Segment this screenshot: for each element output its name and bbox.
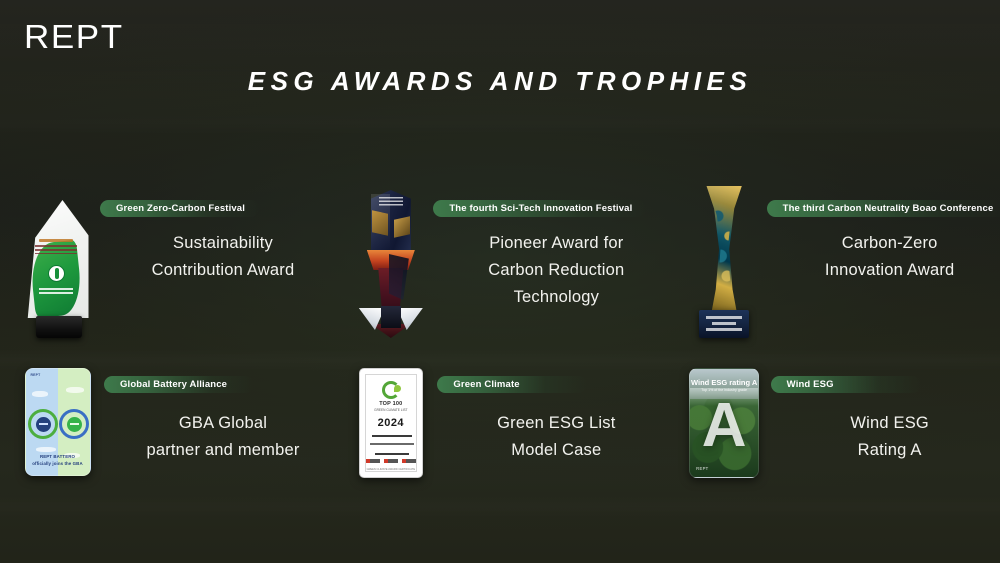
page-title: ESG AWARDS AND TROPHIES xyxy=(0,66,1000,97)
slide-canvas: REPT ESG AWARDS AND TROPHIES Green Zero-… xyxy=(0,0,1000,563)
card-artwork-wind-esg: A Wind ESG rating A Top 1% of the indust… xyxy=(667,368,782,508)
award-caption-line2: Contribution Award xyxy=(112,257,334,284)
award-caption: Pioneer Award for Carbon Reduction Techn… xyxy=(445,230,667,311)
award-item[interactable]: Green Zero-Carbon Festival Sustainabilit… xyxy=(0,178,333,338)
certificate-footer: GREEN CLIMATE AWARD CERTIFICATE xyxy=(360,468,422,471)
card-artwork-certificate: TOP 100 GREEN CLIMATE LIST 2024 GREEN CL… xyxy=(333,368,448,508)
award-caption-line2: Rating A xyxy=(779,437,1000,464)
award-tag: Wind ESG xyxy=(771,376,921,393)
award-caption-line1: Green ESG List xyxy=(497,414,615,432)
award-tag: The third Carbon Neutrality Boao Confere… xyxy=(767,200,1000,217)
award-caption: Sustainability Contribution Award xyxy=(112,230,334,284)
wind-esg-subline: Top 1% of the industry grade xyxy=(690,388,758,392)
awards-row-2: REPT REPT BATTERO officially joins the G… xyxy=(0,368,1000,508)
award-item[interactable]: TOP 100 GREEN CLIMATE LIST 2024 GREEN CL… xyxy=(333,368,666,508)
award-caption-line1: Carbon-Zero xyxy=(842,234,938,252)
award-item[interactable]: The third Carbon Neutrality Boao Confere… xyxy=(667,178,1000,338)
awards-row-1: Green Zero-Carbon Festival Sustainabilit… xyxy=(0,178,1000,338)
wind-esg-rating-card-icon: A Wind ESG rating A Top 1% of the indust… xyxy=(689,368,759,478)
card-artwork-gba: REPT REPT BATTERO officially joins the G… xyxy=(0,368,115,508)
gba-membership-card-icon: REPT REPT BATTERO officially joins the G… xyxy=(25,368,91,476)
gba-card-footer-line1: REPT BATTERO xyxy=(26,454,90,459)
award-tag: Global Battery Alliance xyxy=(104,376,254,393)
award-caption: Green ESG List Model Case xyxy=(445,410,667,464)
award-item[interactable]: A Wind ESG rating A Top 1% of the indust… xyxy=(667,368,1000,508)
certificate-year: 2024 xyxy=(360,417,422,429)
certificate-rank: TOP 100 xyxy=(360,401,422,407)
award-caption: Carbon-Zero Innovation Award xyxy=(779,230,1000,284)
navy-obelisk-trophy-icon xyxy=(359,190,423,338)
award-caption-line1: Wind ESG xyxy=(850,414,929,432)
gold-teal-column-trophy-icon xyxy=(695,186,753,338)
gba-card-brand: REPT xyxy=(31,373,41,377)
award-item[interactable]: REPT REPT BATTERO officially joins the G… xyxy=(0,368,333,508)
trophy-artwork-leaf-crystal xyxy=(0,178,115,338)
trophy-artwork-gold-teal-column xyxy=(667,178,782,338)
award-caption-line1: Sustainability xyxy=(173,234,273,252)
award-caption-line2: partner and member xyxy=(112,437,334,464)
rept-logo: REPT xyxy=(24,20,124,53)
award-tag: Green Climate xyxy=(437,376,587,393)
award-caption-line2: Model Case xyxy=(445,437,667,464)
trophy-artwork-navy-obelisk xyxy=(333,178,448,338)
wind-esg-headline: Wind ESG rating A xyxy=(690,378,758,387)
award-tag: Green Zero-Carbon Festival xyxy=(100,200,259,217)
leaf-crystal-trophy-icon xyxy=(22,200,94,338)
award-tag: The fourth Sci-Tech Innovation Festival xyxy=(433,200,646,217)
gba-card-footer-line2: officially joins the GBA xyxy=(26,461,90,466)
award-caption: GBA Global partner and member xyxy=(112,410,334,464)
award-item[interactable]: The fourth Sci-Tech Innovation Festival … xyxy=(333,178,666,338)
award-caption: Wind ESG Rating A xyxy=(779,410,1000,464)
wind-esg-grade: A xyxy=(690,395,758,457)
green-esg-certificate-icon: TOP 100 GREEN CLIMATE LIST 2024 GREEN CL… xyxy=(359,368,423,478)
certificate-rank-sub: GREEN CLIMATE LIST xyxy=(360,408,422,412)
award-caption-line1: GBA Global xyxy=(179,414,267,432)
wind-esg-card-brand: REPT xyxy=(696,466,708,471)
award-caption-line1: Pioneer Award for xyxy=(489,234,623,252)
green-climate-logo-icon xyxy=(382,381,400,399)
award-caption-line2: Innovation Award xyxy=(779,257,1000,284)
award-caption-line2: Carbon Reduction Technology xyxy=(445,257,667,311)
